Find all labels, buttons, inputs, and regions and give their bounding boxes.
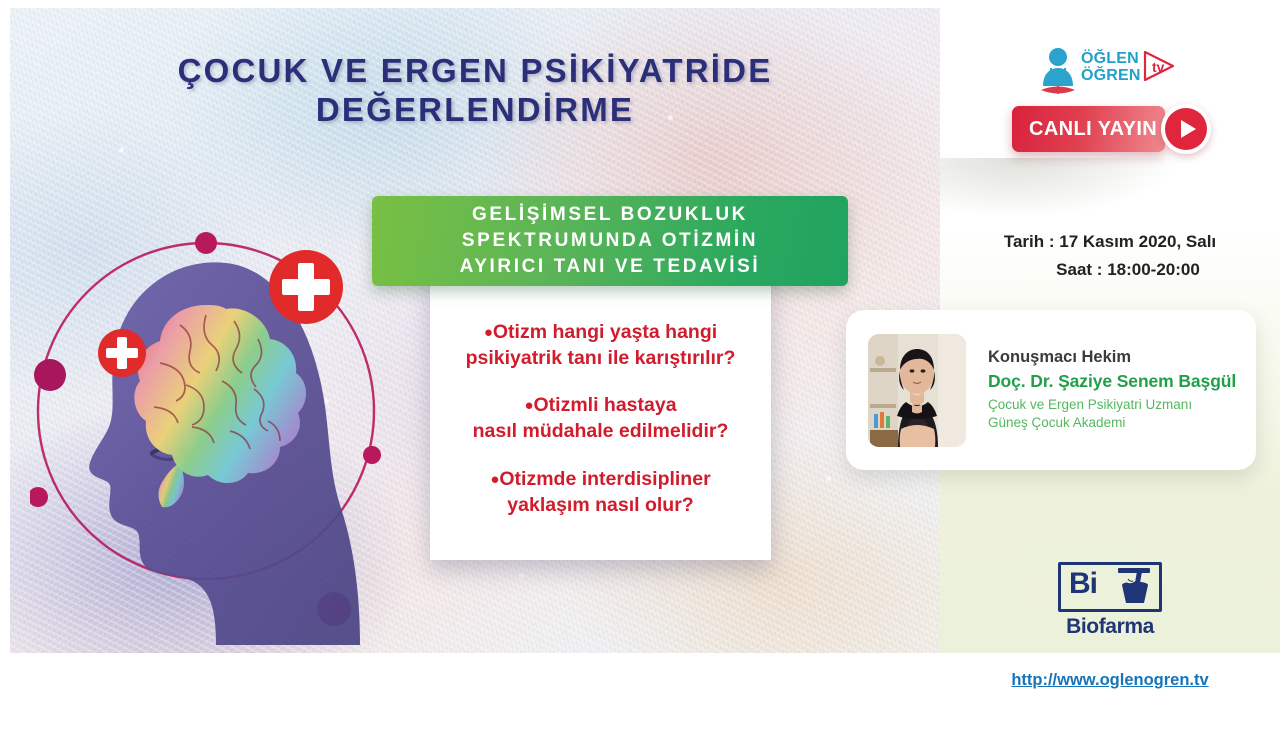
- live-broadcast-button[interactable]: CANLI YAYIN: [1012, 106, 1165, 152]
- doctor-icon: [1037, 46, 1079, 96]
- question-2-line-1: Otizmli hastaya: [534, 394, 677, 416]
- banner-line-3: AYIRICI TANI VE TEDAVİSİ: [460, 256, 761, 277]
- speaker-card: Konuşmacı Hekim Doç. Dr. Şaziye Senem Ba…: [846, 310, 1256, 470]
- banner-line-1: GELİŞİMSEL BOZUKLUK: [472, 204, 748, 225]
- question-1-line-2: psikiyatrik tanı ile karıştırılır?: [466, 347, 736, 369]
- speaker-affiliation: Çocuk ve Ergen Psikiyatri Uzmanı Güneş Ç…: [988, 396, 1236, 432]
- speaker-name: Doç. Dr. Şaziye Senem Başgül: [988, 371, 1236, 392]
- list-item: ●Otizmde interdisipliner yaklaşım nasıl …: [432, 467, 769, 518]
- website-url-link[interactable]: http://www.oglenogren.tv: [940, 671, 1280, 690]
- head-brain-illustration: [30, 175, 390, 655]
- speaker-affiliation-line-1: Çocuk ve Ergen Psikiyatri Uzmanı: [988, 396, 1236, 414]
- banner-line-2: SPEKTRUMUNDA OTİZMİN: [462, 230, 758, 251]
- card-shadow: [940, 158, 1180, 218]
- title-line-1: ÇOCUK VE ERGEN PSİKİYATRİDE: [10, 52, 940, 91]
- plus-icon-small: [98, 329, 146, 377]
- question-1-line-1: Otizm hangi yaşta hangi: [493, 321, 717, 343]
- speaker-avatar: [868, 334, 966, 447]
- subtitle-banner-text: GELİŞİMSEL BOZUKLUK SPEKTRUMUNDA OTİZMİN…: [460, 202, 761, 281]
- brand-line-2: ÖĞREN: [1081, 67, 1141, 84]
- svg-text:tv: tv: [1152, 59, 1165, 75]
- webinar-poster: ÇOCUK VE ERGEN PSİKİYATRİDE DEĞERLENDİRM…: [0, 0, 1280, 730]
- live-button-label: CANLI YAYIN: [1029, 118, 1157, 141]
- speaker-details: Konuşmacı Hekim Doç. Dr. Şaziye Senem Ba…: [988, 348, 1236, 432]
- question-2-line-2: nasıl müdahale edilmelidir?: [473, 420, 729, 442]
- mortar-pestle-icon: [1116, 567, 1152, 612]
- play-triangle: [1181, 120, 1196, 138]
- questions-list: ●Otizm hangi yaşta hangi psikiyatrik tan…: [432, 320, 769, 518]
- play-icon-circle: [1165, 108, 1207, 150]
- sponsor-mark: Bi: [1058, 562, 1162, 612]
- list-item: ●Otizm hangi yaşta hangi psikiyatrik tan…: [432, 320, 769, 371]
- sponsor-mark-text: Bi: [1069, 569, 1097, 599]
- speaker-affiliation-line-2: Güneş Çocuk Akademi: [988, 414, 1236, 432]
- sponsor-logo: Bi Biofarma: [1055, 562, 1165, 639]
- event-time: Saat : 18:00-20:00: [940, 256, 1280, 284]
- play-icon[interactable]: [1161, 104, 1211, 154]
- tv-badge: tv: [1143, 48, 1179, 89]
- title-line-2: DEĞERLENDİRME: [10, 91, 940, 130]
- sponsor-name: Biofarma: [1055, 615, 1165, 639]
- brand-line-1: ÖĞLEN: [1081, 50, 1141, 67]
- question-3-line-2: yaklaşım nasıl olur?: [507, 494, 693, 516]
- question-3-line-1: Otizmde interdisipliner: [499, 468, 710, 490]
- oglen-ogren-tv-logo[interactable]: ÖĞLEN ÖĞREN tv: [1037, 46, 1177, 98]
- bullet-icon: ●: [484, 324, 493, 341]
- event-date: Tarih : 17 Kasım 2020, Salı: [940, 228, 1280, 256]
- page-title: ÇOCUK VE ERGEN PSİKİYATRİDE DEĞERLENDİRM…: [10, 52, 940, 130]
- list-item: ●Otizmli hastaya nasıl müdahale edilmeli…: [432, 393, 769, 444]
- speaker-role: Konuşmacı Hekim: [988, 348, 1236, 367]
- brand-wordmark: ÖĞLEN ÖĞREN: [1081, 50, 1141, 85]
- event-datetime: Tarih : 17 Kasım 2020, Salı Saat : 18:00…: [940, 228, 1280, 284]
- bullet-icon: ●: [524, 397, 533, 414]
- plus-icon-large: [269, 250, 343, 324]
- subtitle-banner: GELİŞİMSEL BOZUKLUK SPEKTRUMUNDA OTİZMİN…: [372, 196, 848, 286]
